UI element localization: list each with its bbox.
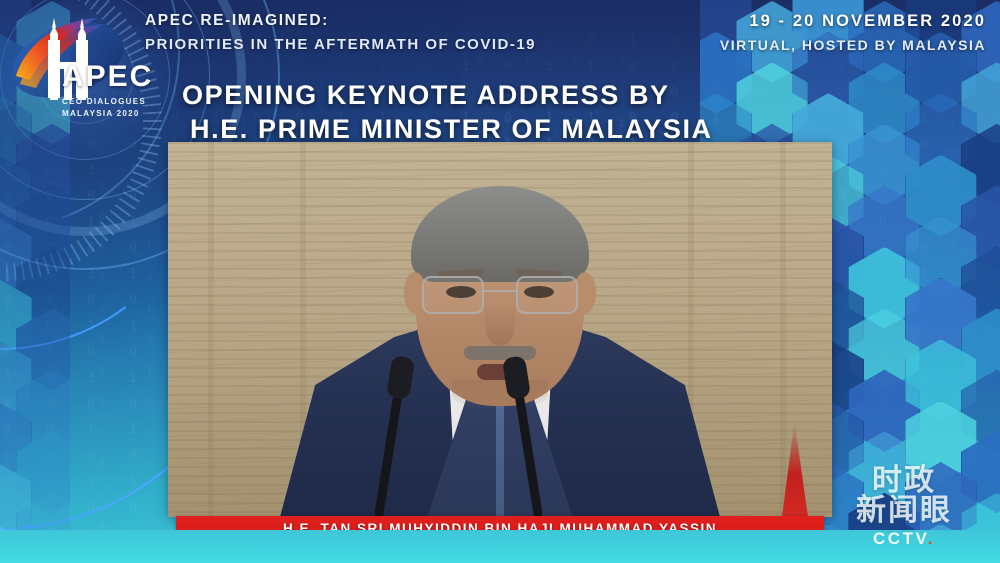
nose [485,304,515,346]
logo-subtitle-1: CEO DIALOGUES [62,97,153,106]
logo-wordmark: APEC [62,62,153,92]
event-theme-line2: PRIORITIES IN THE AFTERMATH OF COVID-19 [145,36,536,53]
logo-subtitle-2: MALAYSIA 2020 [62,109,153,118]
broadcast-screen: 1 0 1 1 0 1 0 0 1 1 0 1 0 1 1 0 0 1 0 1 … [0,0,1000,563]
video-feed[interactable] [168,142,832,517]
apec-logo: APEC CEO DIALOGUES MALAYSIA 2020 [6,4,146,132]
event-theme-block: APEC RE-IMAGINED: PRIORITIES IN THE AFTE… [145,12,536,53]
watermark-cn-line2: 新闻眼 [824,496,984,527]
event-dates: 19 - 20 NOVEMBER 2020 [720,12,986,31]
watermark-network-text: CCTV [873,529,928,548]
event-theme-line1: APEC RE-IMAGINED: [145,12,536,30]
watermark-network: CCTV. [824,529,984,549]
event-date-block: 19 - 20 NOVEMBER 2020 VIRTUAL, HOSTED BY… [720,12,986,53]
session-title: OPENING KEYNOTE ADDRESS BY H.E. PRIME MI… [182,78,882,146]
session-title-line2: H.E. PRIME MINISTER OF MALAYSIA [190,112,882,146]
chin-shadow [452,380,548,410]
speaker-figure [220,142,780,517]
channel-watermark: 时政 新闻眼 CCTV. [824,466,984,549]
mustache [464,346,536,360]
session-title-line1: OPENING KEYNOTE ADDRESS BY [182,78,882,112]
watermark-cn-line1: 时政 [824,466,984,497]
watermark-dot: . [928,529,935,548]
hair [411,186,589,282]
event-host: VIRTUAL, HOSTED BY MALAYSIA [720,37,986,53]
